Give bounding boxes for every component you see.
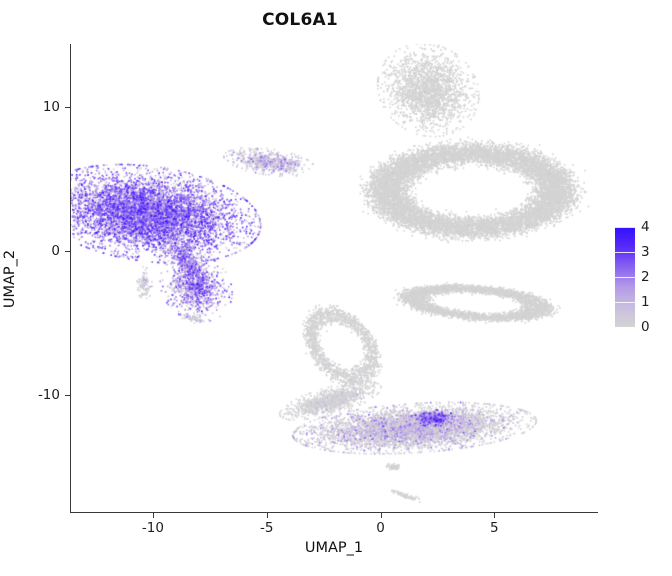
y-tick-mark xyxy=(65,251,70,252)
legend-tick-label: 1 xyxy=(641,294,650,310)
y-axis-label-text: UMAP_2 xyxy=(2,249,18,307)
x-tick-label: -10 xyxy=(142,520,164,536)
legend-tick-label: 0 xyxy=(641,319,650,335)
x-axis-line xyxy=(70,512,598,513)
x-tick-mark xyxy=(267,513,268,518)
y-tick-label: -10 xyxy=(38,387,60,403)
x-axis-label: UMAP_1 xyxy=(70,540,598,556)
legend-tick-label: 3 xyxy=(641,244,650,260)
legend-tick-label: 2 xyxy=(641,269,650,285)
x-tick-label: 5 xyxy=(490,520,499,536)
y-axis-line xyxy=(70,44,71,513)
x-tick-label: 0 xyxy=(376,520,385,536)
y-axis-label: UMAP_2 xyxy=(0,44,20,513)
umap-feature-plot: COL6A1 -10-505 100-10 UMAP_1 UMAP_2 4321… xyxy=(0,0,672,576)
legend-tick-mark xyxy=(615,327,635,328)
legend-tick-mark xyxy=(615,252,635,253)
legend-tick-mark xyxy=(615,227,635,228)
legend-tick-mark xyxy=(615,277,635,278)
page-title: COL6A1 xyxy=(0,10,600,30)
y-tick-label: 0 xyxy=(51,243,60,259)
legend-tick-mark xyxy=(615,302,635,303)
y-tick-mark xyxy=(65,395,70,396)
scatter-plot-canvas xyxy=(71,44,599,513)
x-tick-mark xyxy=(153,513,154,518)
y-tick-mark xyxy=(65,107,70,108)
x-tick-mark xyxy=(381,513,382,518)
legend-tick-label: 4 xyxy=(641,219,650,235)
x-tick-mark xyxy=(494,513,495,518)
y-tick-label: 10 xyxy=(43,99,60,115)
x-tick-label: -5 xyxy=(260,520,273,536)
